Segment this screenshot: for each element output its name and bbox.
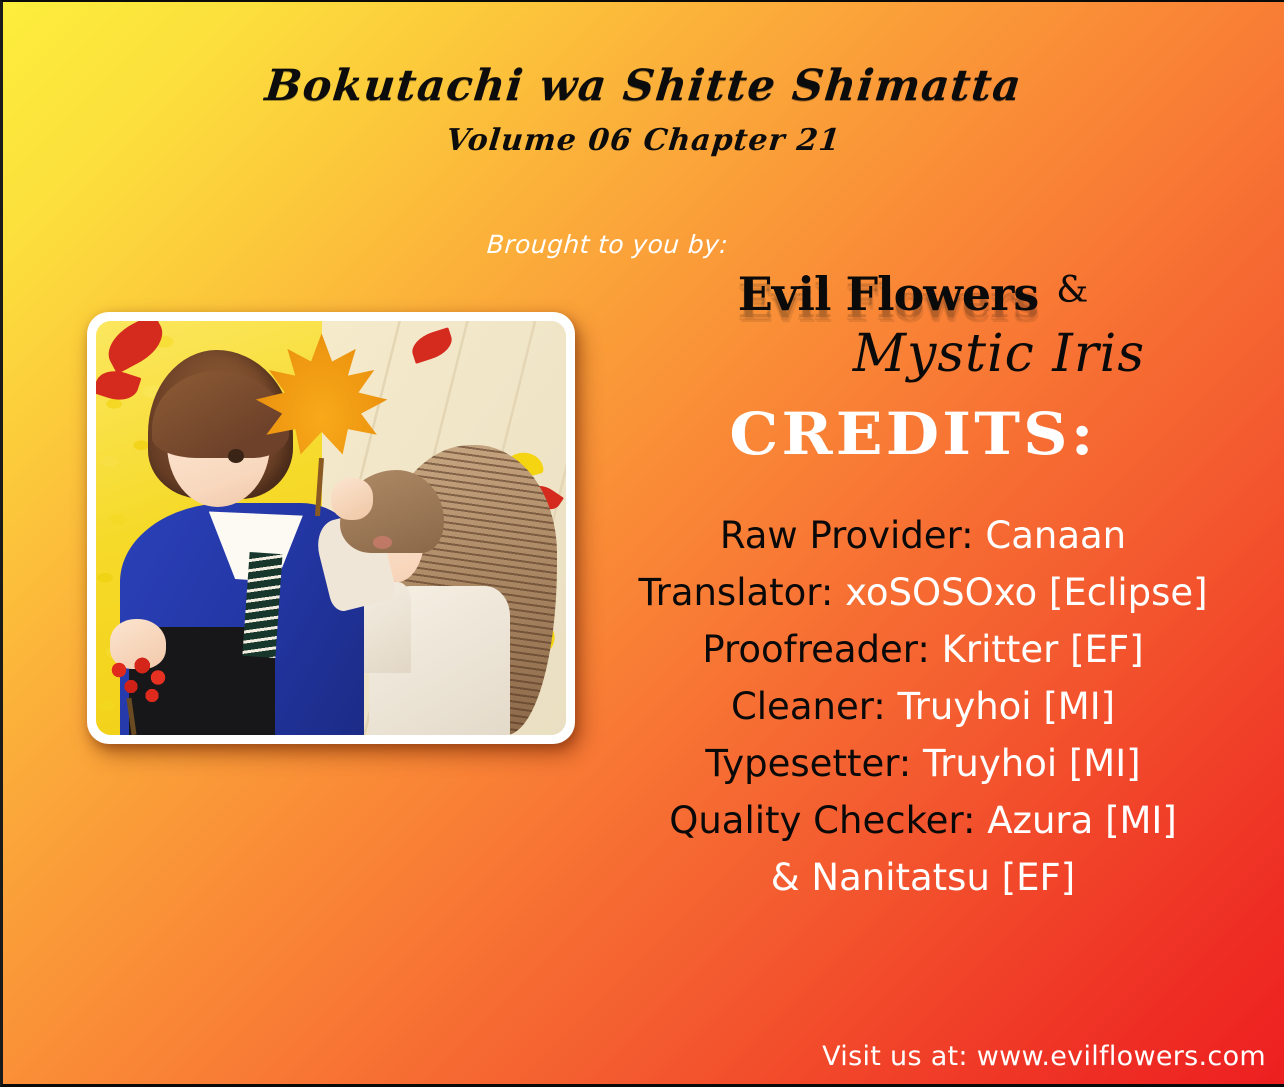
credit-role: Quality Checker: [669,799,987,842]
credit-role: Raw Provider: [720,514,986,557]
credit-name: Azura [MI] [987,799,1177,842]
credit-role: Cleaner: [731,685,898,728]
credits-page: Bokutachi wa Shitte Shimatta Volume 06 C… [0,0,1284,1087]
credit-row: Proofreader: Kritter [EF] [598,621,1248,678]
credit-role: Typesetter: [705,742,923,785]
illustration-frame [87,312,575,744]
credit-row: Raw Provider: Canaan [598,507,1248,564]
scanlation-groups-row: Evil Flowers & [603,270,1223,317]
brought-to-you-by-label: Brought to you by: [486,230,729,259]
credit-name: & Nanitatsu [EF] [771,856,1075,899]
credit-row: & Nanitatsu [EF] [598,849,1248,906]
credit-name: Truyhoi [MI] [923,742,1141,785]
manga-illustration [96,321,566,735]
credit-name: Truyhoi [MI] [898,685,1116,728]
red-flower-icon [101,652,176,727]
series-title: Bokutachi wa Shitte Shimatta [1,64,1284,109]
group-name-evil-flowers: Evil Flowers [738,271,1039,317]
credits-list: Raw Provider: Canaan Translator: xoSOSOx… [598,507,1248,906]
title-block: Bokutachi wa Shitte Shimatta Volume 06 C… [3,64,1284,158]
credit-role: Proofreader: [702,628,941,671]
credit-name: Kritter [EF] [942,628,1144,671]
credit-name: Canaan [985,514,1126,557]
group-name-mystic-iris: Mystic Iris [703,328,1223,380]
volume-chapter-label: Volume 06 Chapter 21 [1,123,1284,158]
group-separator-ampersand: & [1056,270,1088,317]
credit-row: Quality Checker: Azura [MI] [598,792,1248,849]
credit-row: Translator: xoSOSOxo [Eclipse] [598,564,1248,621]
credits-heading: CREDITS: [584,400,1241,468]
girl-blush [373,536,392,548]
boy-eye [228,449,244,462]
credit-name: xoSOSOxo [Eclipse] [845,571,1207,614]
credit-row: Cleaner: Truyhoi [MI] [598,678,1248,735]
visit-us-footer: Visit us at: www.evilflowers.com [822,1041,1266,1072]
boy-leaf-hand [331,478,373,519]
credit-row: Typesetter: Truyhoi [MI] [598,735,1248,792]
credit-role: Translator: [638,571,845,614]
